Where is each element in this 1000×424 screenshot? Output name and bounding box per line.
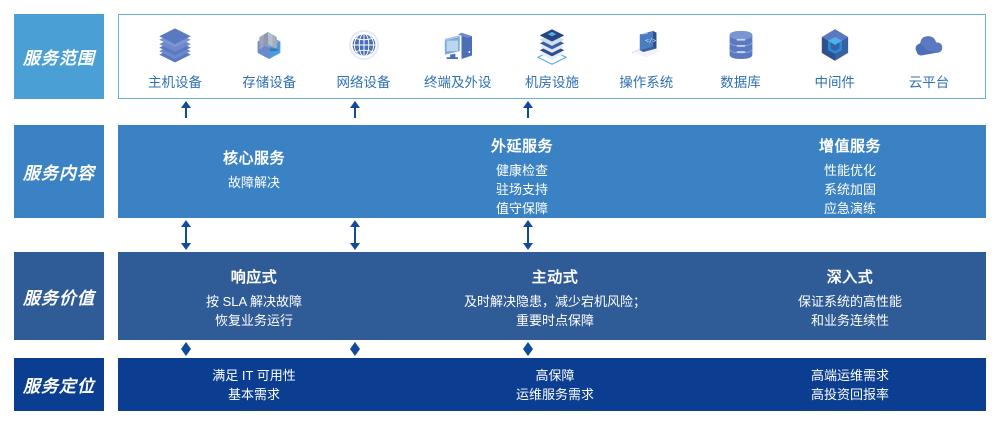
scope-item-label: 云平台	[909, 71, 950, 91]
cloud-platform-icon	[908, 23, 950, 67]
database-cylinder-icon	[720, 23, 762, 67]
gap-3-to-4-arrow	[350, 342, 360, 356]
gap-2-to-3-arrow	[181, 220, 191, 250]
row-label-text: 服务价值	[23, 284, 95, 309]
scope-item-label: 网络设备	[337, 71, 391, 91]
row-label-service-content: 服务内容	[14, 125, 104, 218]
service-positioning-band: 满足 IT 可用性 基本需求 高保障 运维服务需求 高端运维需求 高投资回报率	[118, 358, 986, 411]
positioning-cell-assurance: 高保障 运维服务需求	[516, 366, 594, 404]
gap-1-to-2-arrow	[523, 101, 533, 118]
cell-title: 核心服务	[223, 147, 285, 168]
cell-line: 和业务连续性	[798, 311, 902, 330]
svg-text:</>: </>	[645, 37, 656, 44]
cell-line: 性能优化	[819, 161, 881, 180]
cell-line: 高保障	[516, 366, 594, 385]
gap-3-to-4-arrow	[181, 342, 191, 356]
cell-line: 高端运维需求	[811, 366, 889, 385]
gap-1-to-2-arrow	[181, 101, 191, 118]
positioning-cell-basic: 满足 IT 可用性 基本需求	[212, 366, 296, 404]
cell-line: 应急演练	[819, 199, 881, 218]
scope-item-host[interactable]: 主机设备	[129, 23, 221, 91]
cell-line: 及时解决隐患，减少宕机风险；	[464, 292, 646, 311]
service-scope-panel: 主机设备 存储设备	[118, 14, 986, 99]
server-stack-icon	[154, 23, 196, 67]
value-cell-responsive: 响应式 按 SLA 解决故障 恢复业务运行	[206, 266, 302, 330]
gap-3-to-4-arrow	[523, 342, 533, 356]
scope-item-network[interactable]: 网络设备	[318, 23, 410, 91]
row-label-text: 服务范围	[23, 44, 95, 69]
cell-line: 驻场支持	[491, 180, 553, 199]
cell-line: 恢复业务运行	[206, 311, 302, 330]
scope-item-label: 机房设施	[525, 71, 579, 91]
value-cell-proactive: 主动式 及时解决隐患，减少宕机风险； 重要时点保障	[464, 266, 646, 330]
cell-title: 响应式	[206, 266, 302, 287]
cell-line: 按 SLA 解决故障	[206, 292, 302, 311]
cell-title: 深入式	[798, 266, 902, 287]
gap-2-to-3-arrow	[350, 220, 360, 250]
row-label-service-value: 服务价值	[14, 252, 104, 340]
cell-line: 基本需求	[212, 385, 296, 404]
cell-line: 故障解决	[223, 173, 285, 192]
laptop-code-icon: </>	[625, 23, 667, 67]
scope-item-label: 主机设备	[148, 71, 202, 91]
scope-item-terminal[interactable]: 终端及外设	[412, 23, 504, 91]
scope-item-label: 中间件	[815, 71, 856, 91]
content-cell-valueadd: 增值服务 性能优化 系统加固 应急演练	[819, 135, 881, 218]
row-label-service-scope: 服务范围	[14, 14, 104, 99]
gap-2-to-3-arrow	[523, 220, 533, 250]
scope-item-middleware[interactable]: 中间件	[789, 23, 881, 91]
scope-item-label: 终端及外设	[424, 71, 492, 91]
service-value-band: 响应式 按 SLA 解决故障 恢复业务运行 主动式 及时解决隐患，减少宕机风险；…	[118, 252, 986, 340]
datacenter-rack-icon	[531, 23, 573, 67]
cell-line: 重要时点保障	[464, 311, 646, 330]
service-content-band: 核心服务 故障解决 外延服务 健康检查 驻场支持 值守保障 增值服务 性能优化 …	[118, 125, 986, 218]
cell-title: 增值服务	[819, 135, 881, 156]
scope-item-storage[interactable]: 存储设备	[223, 23, 315, 91]
storage-array-icon	[248, 23, 290, 67]
cell-line: 保证系统的高性能	[798, 292, 902, 311]
cell-line: 值守保障	[491, 199, 553, 218]
cell-line: 运维服务需求	[516, 385, 594, 404]
cell-line: 高投资回报率	[811, 385, 889, 404]
scope-item-os[interactable]: </> 操作系统	[600, 23, 692, 91]
scope-item-datacenter[interactable]: 机房设施	[506, 23, 598, 91]
scope-item-label: 数据库	[720, 71, 761, 91]
content-cell-extended: 外延服务 健康检查 驻场支持 值守保障	[491, 135, 553, 218]
row-label-text: 服务内容	[23, 159, 95, 184]
scope-item-database[interactable]: 数据库	[695, 23, 787, 91]
row-label-text: 服务定位	[23, 372, 95, 397]
positioning-cell-highend: 高端运维需求 高投资回报率	[811, 366, 889, 404]
content-cell-core: 核心服务 故障解决	[223, 147, 285, 192]
cell-title: 主动式	[464, 266, 646, 287]
cell-line: 系统加固	[819, 180, 881, 199]
value-cell-indepth: 深入式 保证系统的高性能 和业务连续性	[798, 266, 902, 330]
diagram-canvas: 服务范围 服务内容 服务价值 服务定位 主机设备	[0, 0, 1000, 424]
cell-title: 外延服务	[491, 135, 553, 156]
globe-network-icon	[343, 23, 385, 67]
gap-1-to-2-arrow	[350, 101, 360, 118]
scope-item-cloud[interactable]: 云平台	[883, 23, 975, 91]
scope-item-label: 操作系统	[619, 71, 673, 91]
cell-line: 满足 IT 可用性	[212, 366, 296, 385]
cell-line: 健康检查	[491, 161, 553, 180]
desktop-terminal-icon	[437, 23, 479, 67]
cube-middleware-icon	[814, 23, 856, 67]
row-label-service-positioning: 服务定位	[14, 358, 104, 411]
scope-item-label: 存储设备	[242, 71, 296, 91]
